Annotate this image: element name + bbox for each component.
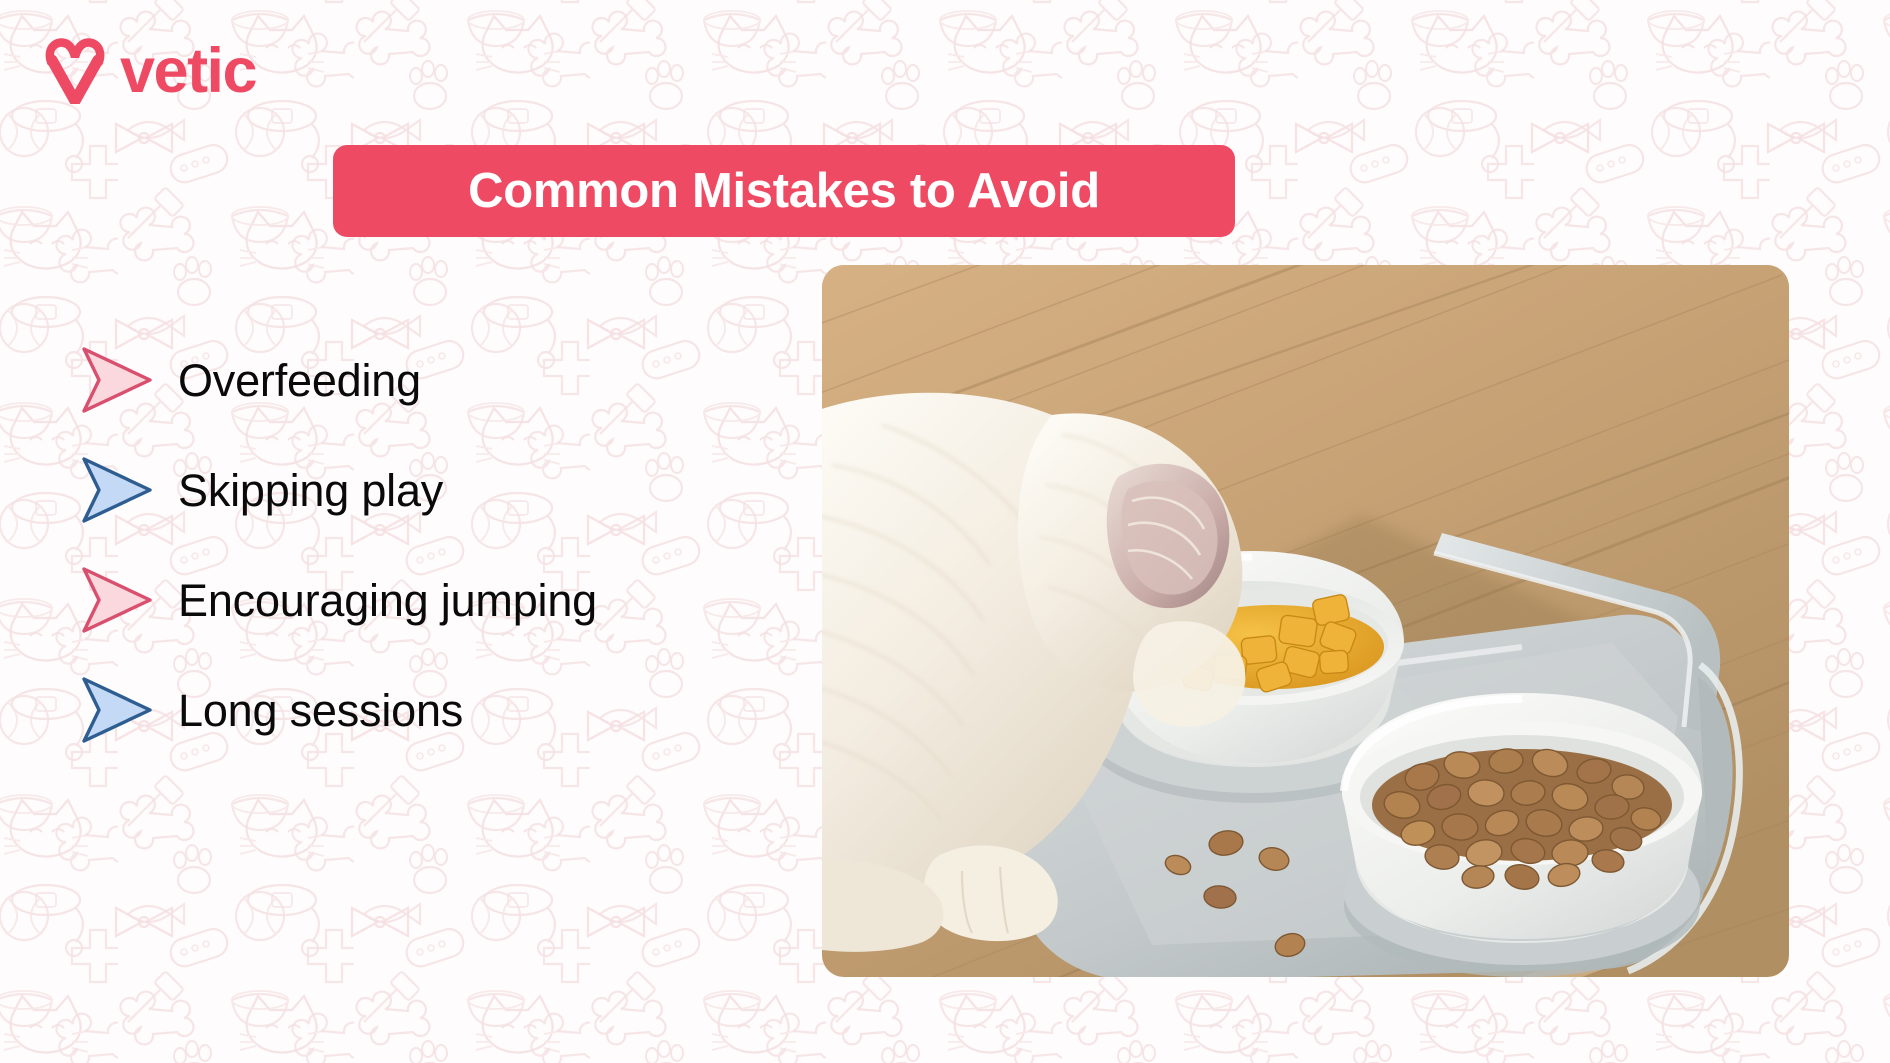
list-item-label: Long sessions xyxy=(178,688,463,733)
list-item: Encouraging jumping xyxy=(72,545,732,655)
list-item-label: Overfeeding xyxy=(178,358,421,403)
list-item-label: Encouraging jumping xyxy=(178,578,597,623)
title-banner: Common Mistakes to Avoid xyxy=(333,145,1235,237)
list-item: Long sessions xyxy=(72,655,732,765)
arrow-right-icon xyxy=(72,337,158,423)
cat-feeding-photo xyxy=(822,265,1789,977)
slide-canvas: vetic Common Mistakes to Avoid Overfeedi… xyxy=(0,0,1890,1063)
page-title: Common Mistakes to Avoid xyxy=(468,163,1100,219)
cat-feeding-illustration xyxy=(822,265,1789,977)
list-item-label: Skipping play xyxy=(178,468,443,513)
mistakes-list: Overfeeding Skipping play Encouraging ju… xyxy=(72,325,732,765)
brand-wordmark: vetic xyxy=(120,40,256,103)
arrow-right-icon xyxy=(72,557,158,643)
brand-logo[interactable]: vetic xyxy=(44,38,256,104)
heart-v-icon xyxy=(44,38,106,104)
list-item: Skipping play xyxy=(72,435,732,545)
list-item: Overfeeding xyxy=(72,325,732,435)
arrow-right-icon xyxy=(72,447,158,533)
arrow-right-icon xyxy=(72,667,158,753)
